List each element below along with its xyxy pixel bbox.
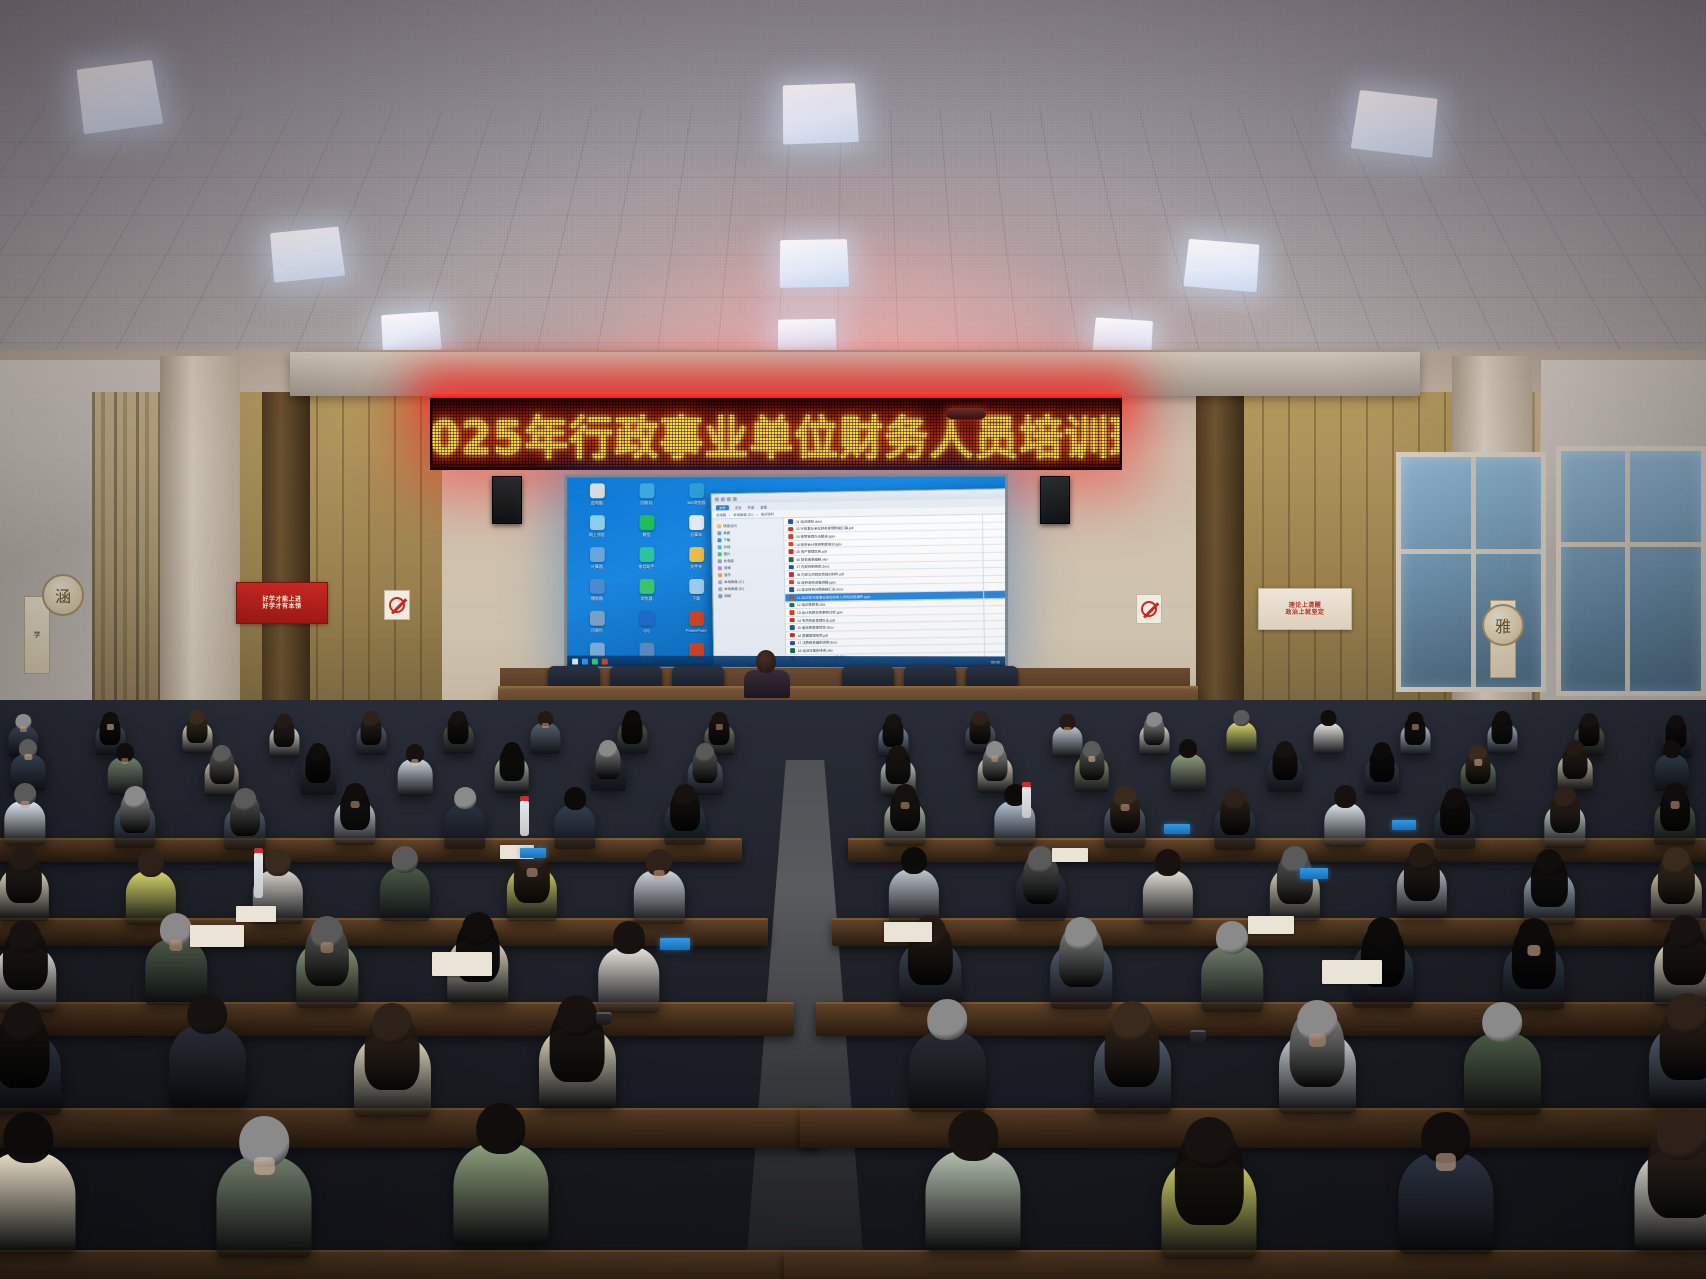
ceiling: [0, 0, 1706, 392]
audience-neck: [901, 802, 910, 810]
audience-head: [1657, 1109, 1706, 1160]
explorer-properties-icon[interactable]: [727, 497, 731, 501]
desktop-icon-caption: 微信: [643, 532, 651, 537]
audience-neck: [107, 724, 113, 729]
app-icon: [639, 547, 654, 562]
audience-neck: [320, 942, 333, 953]
audience-member: [1269, 741, 1301, 804]
audience-torso: [1324, 803, 1365, 847]
explorer-nav-label: 下载: [723, 537, 730, 542]
file-explorer-window[interactable]: 文件主页共享查看 此电脑›本地磁盘 (D:)›培训资料 快速访问桌面下载文档图片…: [711, 488, 1008, 669]
audience-neck: [1121, 804, 1130, 812]
audience-bench: [0, 1250, 846, 1279]
audience-head: [213, 745, 231, 764]
explorer-navigation-pane[interactable]: 快速访问桌面下载文档图片此电脑视频音乐本地磁盘 (C:)本地磁盘 (D:)网络: [712, 518, 786, 661]
explorer-ribbon-tab[interactable]: 主页: [735, 504, 742, 509]
water-bottle: [254, 852, 263, 898]
audience-head: [503, 742, 521, 761]
explorer-dropdown-icon[interactable]: [733, 497, 737, 501]
file-type-icon: [789, 595, 794, 600]
audience-head: [1373, 742, 1391, 761]
app-icon: [689, 547, 704, 562]
explorer-file-name: 14 专项资金管理办法.pdf: [797, 617, 835, 623]
audience-head: [10, 846, 36, 873]
audience-member: [509, 846, 556, 938]
ceiling-soffit-beam: [290, 352, 1420, 396]
audience-head: [1566, 740, 1584, 759]
folder-icon: [718, 573, 722, 577]
audience-head: [1216, 921, 1248, 954]
tablet-screen: [1392, 820, 1416, 830]
audience-head: [138, 850, 164, 877]
explorer-file-name: 17 决算报告编制说明.docx: [797, 640, 837, 646]
explorer-file-name: 16 票据管理规范.pdf: [797, 632, 828, 637]
desktop-icon-caption: 记事本: [690, 532, 702, 537]
audience-member: [357, 1003, 428, 1142]
audience-head: [1495, 711, 1510, 727]
audience-neck: [1671, 801, 1680, 809]
explorer-nav-label: 图片: [724, 551, 731, 556]
explorer-file-name: 13 会计核算实务案例分析.pptx: [797, 609, 843, 615]
explorer-nav-label: 此电脑: [724, 558, 734, 563]
audience-head: [1668, 993, 1706, 1034]
audience-head: [1663, 740, 1681, 759]
bottle-cap: [520, 796, 529, 801]
breadcrumb-segment[interactable]: 本地磁盘 (D:): [733, 512, 753, 517]
folder-icon: [718, 566, 722, 570]
desktop-icon-caption: QQ: [643, 628, 649, 633]
wall-banner-right-line1: 理论上清醒: [1285, 602, 1324, 609]
app-icon: [589, 515, 604, 530]
audience-head: [886, 714, 901, 730]
audience-member: [1097, 1001, 1168, 1140]
audience-head: [9, 920, 41, 953]
explorer-nav-label: 本地磁盘 (C:): [724, 579, 744, 584]
audience-member: [1141, 712, 1168, 765]
desktop-icon[interactable]: 网上邻居: [573, 515, 621, 545]
audience-head: [277, 714, 292, 730]
audience-member: [1638, 1109, 1706, 1279]
audience-head: [1582, 713, 1597, 729]
wall-banner-left-line1: 好学才能上进: [262, 596, 301, 603]
audience-member: [1165, 1117, 1253, 1279]
file-type-icon: [789, 580, 794, 585]
file-type-icon: [789, 572, 794, 577]
breadcrumb-segment[interactable]: 此电脑: [716, 512, 726, 517]
ceiling-light-panel: [783, 83, 859, 144]
taskbar-clock: 09:42: [991, 660, 1000, 664]
ceiling-light-panel: [1351, 90, 1438, 158]
audience-member: [220, 1116, 308, 1279]
desktop-icon[interactable]: 压缩包: [573, 611, 621, 641]
audience-head: [1321, 710, 1336, 726]
audience-head: [364, 711, 379, 727]
audience-head: [1155, 849, 1181, 876]
coffee-cup: [1190, 1030, 1206, 1043]
audience-head: [188, 994, 228, 1035]
explorer-ribbon-tab[interactable]: 文件: [716, 505, 729, 510]
audience-head: [1444, 788, 1466, 810]
desktop-icon[interactable]: 浏览器: [623, 579, 671, 609]
pillar-left: [160, 356, 240, 756]
audience-torso: [1227, 722, 1256, 753]
presenter-head: [756, 650, 776, 673]
folder-icon: [718, 580, 722, 584]
coffee-cup: [596, 1012, 612, 1025]
file-type-icon: [789, 557, 794, 562]
audience-neck: [254, 1157, 274, 1174]
audience-member: [1216, 788, 1254, 863]
taskbar-powerpoint-icon[interactable]: [602, 658, 608, 664]
wood-column-left: [262, 392, 310, 737]
projection-screen[interactable]: 此电脑回收站360浏览器网上邻居微信记事本计算器电话助手文件夹播放器浏览器下载压…: [564, 473, 1008, 670]
wall-medallion-left: 涵: [42, 574, 84, 616]
audience-member: [556, 787, 594, 862]
desktop-icon-caption: 360浏览器: [687, 500, 706, 505]
audience-neck: [1435, 1153, 1455, 1170]
explorer-file-name: 07 内部控制规范.docx: [796, 564, 829, 570]
audience-head: [674, 784, 696, 806]
audience-head: [1028, 846, 1054, 873]
led-banner-sensor: [946, 408, 986, 419]
explorer-ribbon-tab[interactable]: 共享: [747, 504, 754, 509]
audience-member: [336, 783, 374, 858]
desktop-icon[interactable]: 微信: [623, 515, 671, 545]
folder-icon: [718, 594, 722, 598]
audience-head: [1179, 739, 1197, 758]
desk-paper: [884, 922, 932, 942]
audience-torso: [1314, 723, 1343, 754]
desktop-icon-caption: 文件夹: [690, 564, 702, 569]
file-type-icon: [789, 549, 794, 554]
app-icon: [689, 579, 704, 594]
no-smoking-sign-right: [1136, 594, 1162, 624]
audience-head: [476, 1103, 526, 1154]
explorer-file-name: 03 预算管理办法解读.pptx: [796, 533, 835, 539]
bottle-cap: [254, 848, 263, 853]
audience-neck: [716, 724, 722, 729]
audience-member: [456, 1103, 544, 1276]
explorer-nav-label: 文档: [724, 544, 731, 549]
audience-head: [373, 1003, 413, 1044]
audience-member: [1172, 739, 1204, 802]
audience-head: [625, 710, 640, 726]
explorer-file-name: 02 行政事业单位财务管理制度汇编.pdf: [796, 525, 854, 531]
audience-member: [929, 1110, 1017, 1279]
app-icon: [639, 579, 654, 594]
bottle-cap: [1022, 782, 1031, 787]
file-type-icon: [790, 625, 795, 630]
audience-head: [1185, 1117, 1235, 1168]
audience-member: [358, 711, 385, 764]
audience-member: [1366, 742, 1398, 805]
wall-banner-right: 理论上清醒 政治上就坚定: [1258, 588, 1352, 630]
audience-member: [1076, 741, 1108, 804]
audience-head: [1367, 917, 1399, 950]
desktop-icon[interactable]: 此电脑: [573, 483, 621, 513]
file-type-icon: [790, 633, 795, 638]
audience-torso: [453, 1143, 548, 1245]
file-type-icon: [789, 565, 794, 570]
breadcrumb-segment[interactable]: 培训资料: [761, 511, 775, 516]
explorer-nav-label: 桌面: [723, 530, 730, 535]
audience-neck: [542, 723, 548, 728]
desktop-icon[interactable]: 播放器: [573, 579, 621, 609]
audience-head: [3, 1112, 53, 1163]
audience-torso: [909, 1031, 985, 1113]
explorer-nav-label: 本地磁盘 (D:): [724, 586, 744, 591]
breadcrumb-separator: ›: [729, 513, 730, 517]
audience-torso: [1171, 754, 1206, 791]
desktop-icon-caption: 网上邻居: [589, 532, 605, 537]
audience-member: [1326, 785, 1364, 860]
audience-member: [445, 711, 472, 764]
explorer-file-name: 12 培训签到表.xlsx: [797, 602, 826, 607]
audience-member: [592, 740, 624, 803]
explorer-nav-label: 网络: [724, 593, 731, 598]
led-banner-text: 2025年行政事业单位财务人员培训班: [430, 400, 1122, 467]
window-right-1: [1396, 452, 1546, 692]
explorer-file-name: 08 内控与风险防范培训材料.pdf: [796, 571, 844, 577]
explorer-nav-label: 音乐: [724, 572, 731, 577]
file-type-icon: [790, 618, 795, 623]
folder-icon: [718, 559, 722, 563]
audience-head: [696, 743, 714, 762]
audience-head: [1536, 849, 1562, 876]
audience-head: [451, 711, 466, 727]
desktop-icon-caption: 电话助手: [639, 564, 655, 569]
desktop-icon-caption: 播放器: [591, 596, 603, 601]
audience-head: [190, 710, 205, 726]
explorer-nav-item[interactable]: 网络: [715, 591, 782, 599]
window-mullion-h: [1401, 549, 1541, 554]
audience-head: [462, 912, 494, 945]
explorer-body: 快速访问桌面下载文档图片此电脑视频音乐本地磁盘 (C:)本地磁盘 (D:)网络 …: [712, 514, 1008, 661]
audience-neck: [121, 758, 128, 764]
wood-panel-left: [212, 392, 442, 732]
desktop-icon-caption: 回收站: [641, 500, 653, 505]
audience-neck: [411, 759, 418, 765]
audience-member: [298, 916, 355, 1028]
audience-head: [599, 740, 617, 759]
app-icon: [689, 483, 704, 498]
audience-neck: [1309, 1033, 1325, 1047]
ceiling-light-panel: [270, 227, 345, 283]
water-bottle: [1022, 786, 1031, 818]
breadcrumb-separator: ›: [756, 512, 757, 516]
wall-speaker-right: [1040, 476, 1070, 524]
audience-head: [309, 743, 327, 762]
desk-paper: [432, 952, 492, 976]
file-type-icon: [788, 534, 793, 539]
audience-torso: [444, 804, 485, 848]
ceiling-light-panel: [780, 239, 849, 288]
folder-icon: [718, 545, 722, 549]
audience-head: [948, 1110, 998, 1161]
audience-neck: [1527, 945, 1540, 956]
audience-member: [532, 711, 559, 764]
audience-head: [1663, 847, 1689, 874]
audience-head: [265, 849, 291, 876]
file-type-icon: [789, 587, 794, 592]
desktop-icon[interactable]: QQ: [623, 611, 671, 641]
app-icon: [639, 515, 654, 530]
audience-neck: [1064, 727, 1070, 732]
window-right-2: [1556, 446, 1706, 696]
window-mullion-v: [1471, 457, 1476, 687]
app-icon: [589, 547, 604, 562]
audience-torso: [380, 867, 430, 921]
audience-member: [271, 714, 298, 767]
audience-neck: [1088, 756, 1095, 762]
audience-head: [1276, 741, 1294, 760]
desktop-icon-grid[interactable]: 此电脑回收站360浏览器网上邻居微信记事本计算器电话助手文件夹播放器浏览器下载压…: [573, 483, 722, 670]
explorer-file-list[interactable]: 01 培训通知.docx02 行政事业单位财务管理制度汇编.pdf03 预算管理…: [784, 514, 1008, 660]
desk-paper: [1322, 960, 1382, 984]
audience-torso: [169, 1025, 245, 1107]
taskbar-browser-icon[interactable]: [592, 658, 598, 664]
app-icon: [639, 483, 654, 498]
desk-paper: [1052, 848, 1088, 862]
audience-member: [1228, 710, 1255, 763]
ceiling-light-panel: [1183, 239, 1259, 292]
audience-neck: [170, 940, 183, 951]
audience-head: [564, 787, 586, 809]
explorer-new-folder-icon[interactable]: [721, 497, 725, 501]
explorer-file-name: 01 培训通知.docx: [796, 518, 822, 523]
folder-icon: [717, 524, 721, 528]
no-smoking-icon-2: [1141, 601, 1157, 617]
audience-head: [1669, 915, 1701, 948]
file-type-icon: [788, 519, 793, 524]
led-banner: 2025年行政事业单位财务人员培训班: [430, 398, 1122, 470]
desktop-icon-caption: 下载: [692, 596, 700, 601]
audience-torso: [1143, 870, 1193, 924]
presenter-body: [744, 670, 790, 698]
audience-neck: [1475, 759, 1482, 765]
app-icon: [589, 611, 604, 626]
audience-head: [973, 711, 988, 727]
audience-head: [1554, 786, 1576, 808]
audience-member: [382, 846, 429, 938]
explorer-file-name: 09 政府采购流程讲解.pptx: [797, 579, 836, 585]
no-smoking-icon: [389, 597, 405, 613]
audience-neck: [20, 726, 26, 731]
no-smoking-sign-left: [384, 590, 410, 620]
audience-torso: [1464, 1033, 1540, 1115]
audience-member: [1144, 849, 1191, 941]
app-icon: [639, 611, 654, 626]
explorer-file-name: 10 常见财务问题答疑汇总.docx: [797, 586, 844, 592]
audience-head: [234, 788, 256, 810]
taskbar-explorer-icon[interactable]: [582, 658, 588, 664]
file-type-icon: [789, 610, 794, 615]
audience-member: [1106, 786, 1144, 861]
desktop-icon[interactable]: 计算器: [573, 547, 621, 577]
desktop-icon-caption: PowerPoint: [686, 628, 706, 633]
audience-torso: [926, 1150, 1021, 1252]
desk-paper: [190, 925, 244, 947]
window-mullion-h2: [1561, 542, 1701, 547]
folder-icon: [717, 538, 721, 542]
wall-scroll-left-text: 学: [32, 631, 42, 640]
audience-head: [1113, 1001, 1153, 1042]
audience-member: [302, 743, 334, 806]
wall-banner-right-line2: 政治上就坚定: [1285, 609, 1324, 616]
tablet-screen: [520, 848, 546, 858]
explorer-file-name: 15 差旅费管理规定.docx: [797, 625, 834, 631]
audience-head: [454, 787, 476, 809]
audience-head: [928, 999, 968, 1040]
app-icon: [689, 515, 704, 530]
audience-head: [900, 847, 926, 874]
wall-banner-left-line2: 好学才有本领: [262, 603, 301, 610]
audience-torso: [0, 1152, 76, 1254]
audience-head: [124, 786, 146, 808]
audience-member: [172, 994, 243, 1133]
explorer-quick-access-icon[interactable]: [715, 497, 719, 501]
file-type-icon: [790, 641, 795, 646]
explorer-ribbon-tab[interactable]: 查看: [760, 504, 767, 509]
file-type-icon: [788, 527, 793, 532]
wood-column-right: [1196, 392, 1244, 737]
explorer-file-name: 06 财务报表编制.xlsx: [796, 556, 828, 562]
explorer-file-name: 18 培训日程安排表.xlsx: [798, 647, 833, 652]
explorer-file-name: 05 资产管理实务.pdf: [796, 549, 827, 554]
audience-head: [1065, 917, 1097, 950]
audience-neck: [21, 801, 30, 809]
audience-member: [1282, 1000, 1353, 1139]
audience-head: [392, 846, 418, 873]
start-button-icon[interactable]: [572, 658, 578, 664]
audience-head: [1147, 712, 1162, 728]
audience-neck: [527, 868, 538, 877]
desktop-icon-caption: 计算器: [591, 564, 603, 569]
tablet-screen: [1164, 824, 1190, 834]
wall-speaker-left: [492, 476, 522, 524]
desktop-icon[interactable]: 电话助手: [623, 547, 671, 577]
desk-paper: [236, 906, 276, 922]
windows-desktop[interactable]: 此电脑回收站360浏览器网上邻居微信记事本计算器电话助手文件夹播放器浏览器下载压…: [567, 477, 1005, 668]
file-type-icon: [789, 603, 794, 608]
folder-icon: [718, 587, 722, 591]
audience-torso: [554, 805, 595, 849]
audience-head: [558, 995, 598, 1036]
audience-head: [3, 1002, 43, 1043]
water-bottle: [520, 800, 529, 836]
explorer-nav-label: 视频: [724, 565, 731, 570]
explorer-file-name: 04 政府会计准则制度培训.pptx: [796, 541, 842, 547]
conference-hall-photo: 2025年行政事业单位财务人员培训班 此电脑回收站360浏览器网上邻居微信记事本…: [0, 0, 1706, 1279]
audience-member: [399, 744, 431, 807]
audience-head: [889, 745, 907, 764]
audience-member: [1402, 712, 1429, 765]
desk-paper: [1248, 916, 1294, 934]
audience-member: [446, 787, 484, 862]
audience-member: [1203, 921, 1260, 1033]
file-type-icon: [788, 542, 793, 547]
window-mullion-v2: [1625, 451, 1630, 691]
audience-head: [1234, 710, 1249, 726]
desktop-icon[interactable]: 回收站: [623, 483, 671, 513]
audience-neck: [654, 870, 665, 879]
audience-head: [1483, 1002, 1523, 1043]
audience-neck: [991, 756, 998, 762]
desktop-icon-caption: 浏览器: [641, 596, 653, 601]
audience-member: [1315, 710, 1342, 763]
app-icon: [589, 483, 604, 498]
audience-neck: [1412, 724, 1418, 729]
